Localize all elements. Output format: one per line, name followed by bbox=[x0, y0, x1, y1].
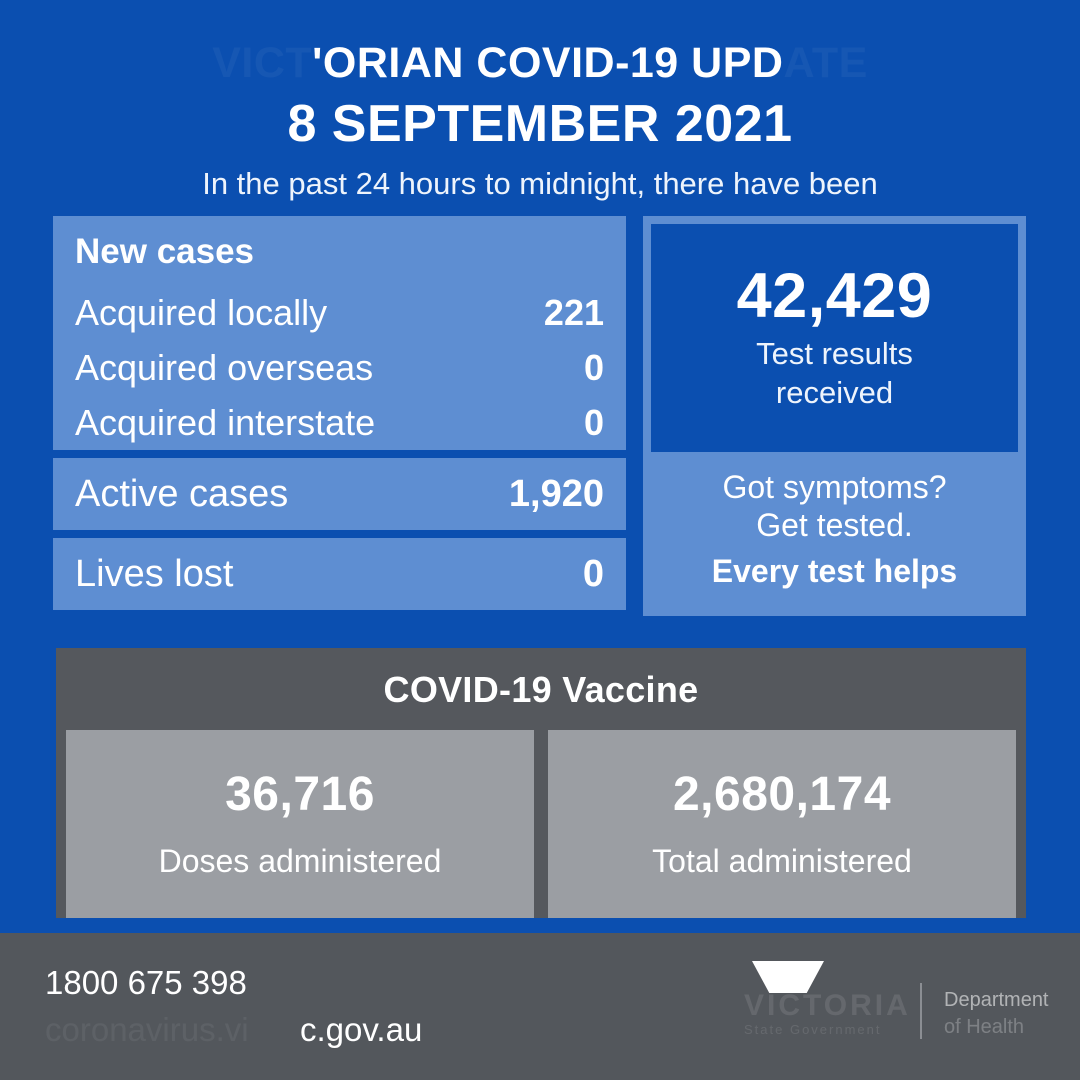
stat-label: Acquired overseas bbox=[75, 347, 373, 388]
victoria-state-government-text: State Government bbox=[744, 1023, 882, 1036]
stat-value: 0 bbox=[584, 340, 604, 395]
footer: 1800 675 398 coronavirus.vi c.gov.au VIC… bbox=[0, 933, 1080, 1080]
test-results-caption: Test results received bbox=[756, 335, 913, 413]
report-subtitle: In the past 24 hours to midnight, there … bbox=[0, 168, 1080, 199]
new-cases-panel: New cases Acquired locally 221 Acquired … bbox=[53, 216, 626, 450]
vaccine-total-caption: Total administered bbox=[652, 845, 912, 877]
active-cases-label: Active cases bbox=[75, 473, 288, 515]
page-title: VICT'ORIAN COVID-19 UPDATE bbox=[0, 42, 1080, 85]
lives-lost-value: 0 bbox=[583, 538, 604, 610]
footer-url-visible: c.gov.au bbox=[300, 1013, 422, 1046]
vaccine-box-group: 36,716 Doses administered 2,680,174 Tota… bbox=[66, 730, 1016, 918]
active-cases-panel: Active cases 1,920 bbox=[53, 458, 626, 530]
footer-website-url[interactable]: coronavirus.vi c.gov.au bbox=[45, 1013, 525, 1053]
footer-url-ghost: coronavirus.vi bbox=[45, 1013, 249, 1046]
victoria-wordmark: VICTORIA bbox=[744, 991, 911, 1021]
infographic-canvas: VICT'ORIAN COVID-19 UPDATE 8 SEPTEMBER 2… bbox=[0, 0, 1080, 1080]
symptoms-line-1: Got symptoms? bbox=[722, 469, 946, 507]
logo-divider bbox=[920, 983, 922, 1039]
stat-label: Acquired locally bbox=[75, 292, 327, 333]
vaccine-section: COVID-19 Vaccine 36,716 Doses administer… bbox=[56, 648, 1026, 918]
vaccine-section-title: COVID-19 Vaccine bbox=[66, 648, 1016, 730]
stat-row-acquired-overseas: Acquired overseas 0 bbox=[75, 340, 604, 395]
stat-row-acquired-locally: Acquired locally 221 bbox=[75, 285, 604, 340]
left-column: New cases Acquired locally 221 Acquired … bbox=[53, 216, 626, 610]
active-cases-value: 1,920 bbox=[509, 458, 604, 530]
lives-lost-panel: Lives lost 0 bbox=[53, 538, 626, 610]
symptoms-message: Got symptoms? Get tested. Every test hel… bbox=[651, 452, 1018, 608]
vaccine-doses-administered-box: 36,716 Doses administered bbox=[66, 730, 534, 918]
vaccine-total-administered-box: 2,680,174 Total administered bbox=[548, 730, 1016, 918]
test-results-panel: 42,429 Test results received bbox=[651, 224, 1018, 452]
right-column: 42,429 Test results received Got symptom… bbox=[643, 216, 1026, 616]
header: VICT'ORIAN COVID-19 UPDATE 8 SEPTEMBER 2… bbox=[0, 0, 1080, 212]
page-title-visible: 'ORIAN COVID-19 UPD bbox=[312, 42, 783, 85]
vaccine-doses-caption: Doses administered bbox=[159, 845, 442, 877]
department-of-health-label: Department of Health bbox=[944, 987, 1049, 1041]
stat-row-acquired-interstate: Acquired interstate 0 bbox=[75, 395, 604, 450]
symptoms-line-2: Get tested. bbox=[756, 507, 913, 545]
department-line-2: of Health bbox=[944, 1014, 1049, 1041]
vaccine-total-number: 2,680,174 bbox=[673, 771, 891, 819]
test-results-number: 42,429 bbox=[737, 263, 933, 329]
vaccine-doses-number: 36,716 bbox=[225, 771, 375, 819]
stat-value: 221 bbox=[544, 285, 604, 340]
new-cases-heading: New cases bbox=[75, 234, 604, 269]
test-results-caption-line2: received bbox=[756, 374, 913, 413]
symptoms-line-3: Every test helps bbox=[712, 553, 957, 591]
lives-lost-label: Lives lost bbox=[75, 553, 233, 595]
test-results-caption-line1: Test results bbox=[756, 335, 913, 374]
footer-phone-number: 1800 675 398 bbox=[45, 966, 247, 999]
stat-label: Acquired interstate bbox=[75, 402, 375, 443]
stat-value: 0 bbox=[584, 395, 604, 450]
victoria-government-logo: VICTORIA State Government Department of … bbox=[752, 955, 1052, 1055]
page-title-ghost-left: VICT bbox=[212, 42, 312, 85]
report-date: 8 SEPTEMBER 2021 bbox=[0, 98, 1080, 150]
page-title-ghost-right: ATE bbox=[783, 42, 867, 85]
department-line-1: Department bbox=[944, 987, 1049, 1014]
